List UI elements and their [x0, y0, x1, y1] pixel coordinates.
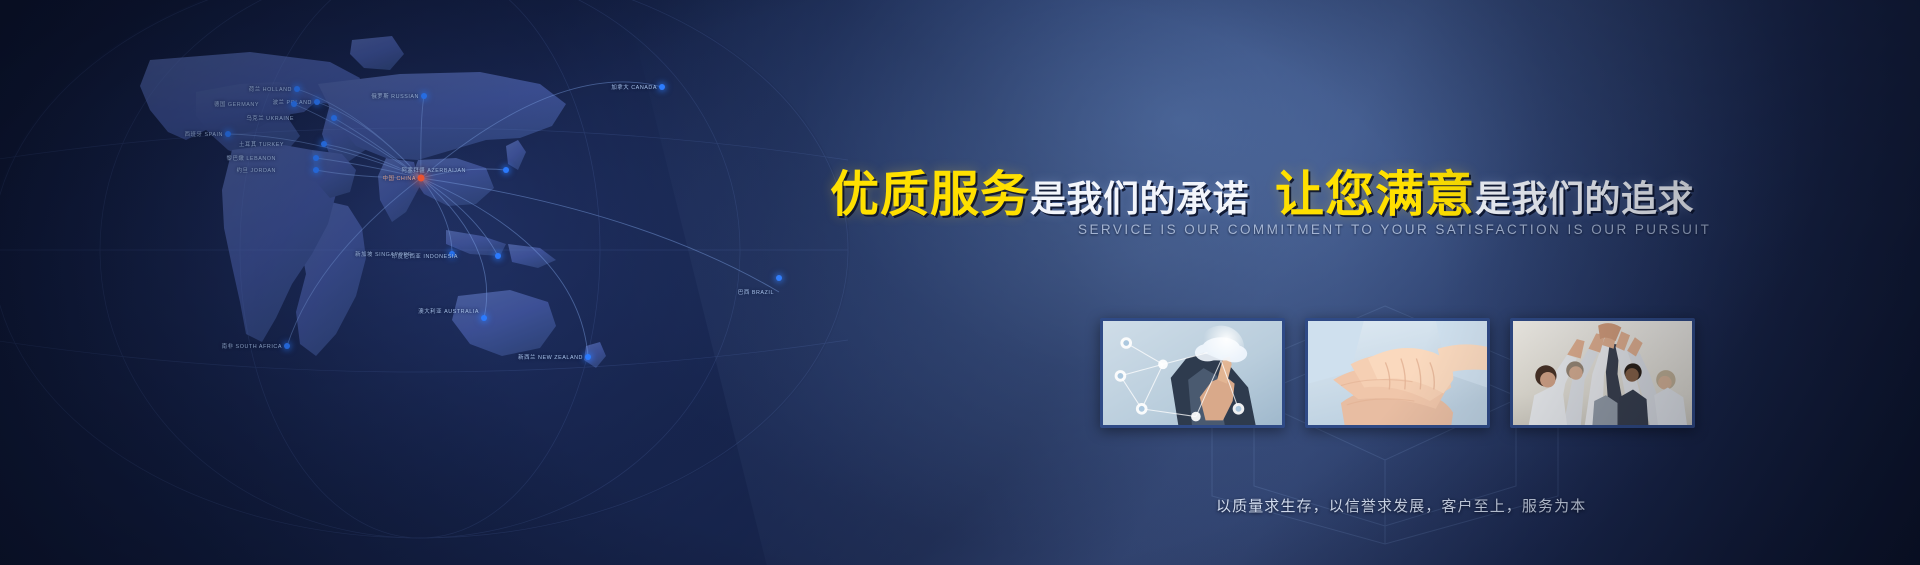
headline-highlight-1: 优质服务	[830, 155, 1030, 226]
service-banner: 荷兰 HOLLAND波兰 POLAND德国 GERMANY俄罗斯 RUSSIAN…	[0, 0, 1920, 565]
tagline: 以质量求生存，以信誉求发展，客户至上，服务为本	[1216, 495, 1586, 516]
headline-normal-2: 是我们的追求	[1475, 170, 1694, 222]
headline-highlight-2: 让您满意	[1275, 155, 1475, 226]
copy-block: 优质服务 是我们的承诺 让您满意 是我们的追求 SERVICE IS OUR C…	[0, 0, 1920, 565]
subline-english: SERVICE IS OUR COMMITMENT TO YOUR SATISF…	[1078, 222, 1711, 237]
headline-normal-1: 是我们的承诺	[1030, 170, 1249, 222]
photo-hands-stacked-teamwork[interactable]	[1305, 318, 1490, 428]
photo-strip	[1100, 318, 1695, 428]
headline: 优质服务 是我们的承诺 让您满意 是我们的追求	[830, 155, 1694, 226]
photo-cloud-computing-touch[interactable]	[1100, 318, 1285, 428]
photo-team-high-five[interactable]	[1510, 318, 1695, 428]
